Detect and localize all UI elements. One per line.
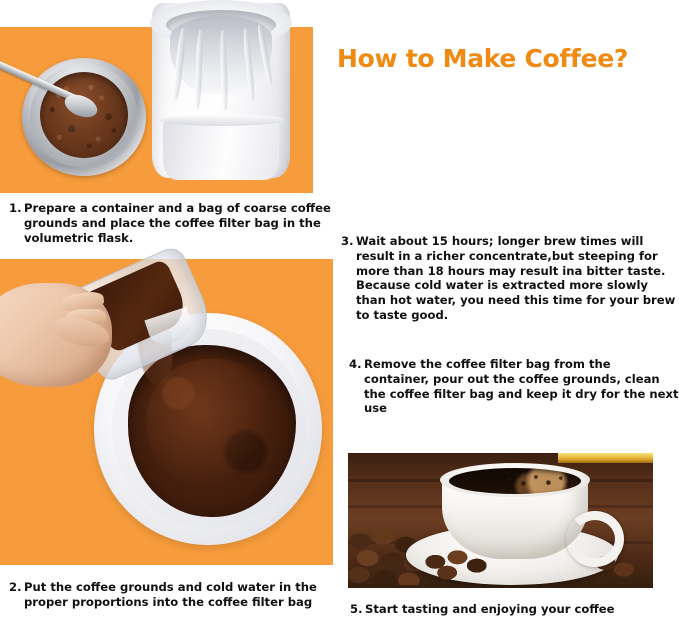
photo-pouring-grounds <box>0 259 333 565</box>
page-title: How to Make Coffee? <box>337 45 679 73</box>
step-5-text: Start tasting and enjoying your coffee <box>365 602 614 616</box>
step-4-text: Remove the coffee filter bag from the co… <box>364 357 679 415</box>
step-3-caption: 3.Wait about 15 hours; longer brew times… <box>341 234 679 323</box>
filter-bag-seam <box>158 114 284 126</box>
step-4-number: 4. <box>349 357 364 372</box>
infographic-canvas: How to Make Coffee? 1.Prepare a containe… <box>0 0 679 625</box>
step-4-caption: 4.Remove the coffee filter bag from the … <box>349 357 679 416</box>
step-2-caption: 2.Put the coffee grounds and cold water … <box>9 580 331 610</box>
step-2-text: Put the coffee grounds and cold water in… <box>24 580 317 609</box>
filter-bag-lower <box>163 118 279 180</box>
crema-bubbles <box>500 471 578 491</box>
step-2-number: 2. <box>9 580 24 595</box>
step-3-text: Wait about 15 hours; longer brew times w… <box>356 234 675 322</box>
step-3-number: 3. <box>341 234 356 249</box>
step-1-caption: 1.Prepare a container and a bag of coars… <box>9 201 331 245</box>
step-1-text: Prepare a container and a bag of coarse … <box>24 201 331 245</box>
photo-jar-and-filter-bag <box>0 0 313 193</box>
cup-handle <box>566 511 624 567</box>
step-5-caption: 5.Start tasting and enjoying your coffee <box>350 602 679 617</box>
photo-brewed-coffee-cup <box>348 453 653 588</box>
step-1-number: 1. <box>9 201 24 216</box>
light-streak <box>558 453 653 463</box>
step-5-number: 5. <box>350 602 365 617</box>
